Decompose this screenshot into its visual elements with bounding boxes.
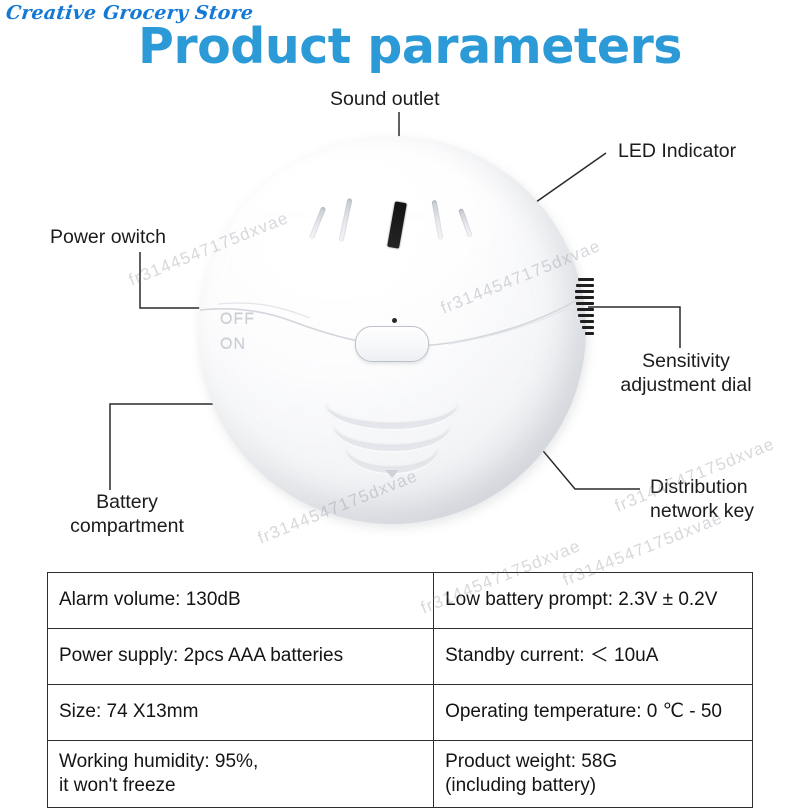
callout-sensitivity-adjustment-dial: Sensitivity adjustment dial <box>596 350 776 398</box>
product-illustration: OFF ON Sound outlet LED Indicator Power … <box>0 80 800 555</box>
callout-sound-outlet: Sound outlet <box>330 88 440 112</box>
speaker-grille <box>326 404 458 476</box>
spec-cell-left: Working humidity: 95%, it won't freeze <box>48 741 434 808</box>
grille-caret-icon <box>385 470 399 478</box>
callout-led-indicator: LED Indicator <box>618 140 736 164</box>
switch-label-on: ON <box>220 333 294 358</box>
power-switch-labels[interactable]: OFF ON <box>220 308 294 358</box>
spec-cell-right: Standby current: ＜ 10uA <box>434 629 753 685</box>
smoke-detector-body: OFF ON <box>198 136 586 524</box>
spec-cell-left: Size: 74 X13mm <box>48 685 434 741</box>
sensitivity-adjustment-dial[interactable] <box>566 278 594 338</box>
table-row: Alarm volume: 130dB Low battery prompt: … <box>48 573 753 629</box>
callout-distribution-network-key: Distribution network key <box>650 476 754 524</box>
distribution-network-key-button[interactable] <box>355 326 429 362</box>
callout-power-switch: Power owitch <box>50 226 166 250</box>
table-row: Power supply: 2pcs AAA batteries Standby… <box>48 629 753 685</box>
spec-cell-left: Alarm volume: 130dB <box>48 573 434 629</box>
switch-label-off: OFF <box>220 308 294 333</box>
spec-cell-left: Power supply: 2pcs AAA batteries <box>48 629 434 685</box>
table-row: Working humidity: 95%, it won't freeze P… <box>48 741 753 808</box>
spec-cell-right: Product weight: 58G (including battery) <box>434 741 753 808</box>
table-row: Size: 74 X13mm Operating temperature: 0 … <box>48 685 753 741</box>
sound-outlet-vents <box>307 196 477 258</box>
spec-cell-right: Low battery prompt: 2.3V ± 0.2V <box>434 573 753 629</box>
led-indicator-dot <box>392 318 397 323</box>
spec-cell-right: Operating temperature: 0 ℃ - 50 <box>434 685 753 741</box>
page-title: Product parameters <box>0 18 800 75</box>
specification-table: Alarm volume: 130dB Low battery prompt: … <box>47 572 753 808</box>
callout-battery-compartment: Battery compartment <box>62 491 192 539</box>
led-indicator-window <box>387 201 407 248</box>
leader-sensitivity-dial <box>588 307 680 348</box>
